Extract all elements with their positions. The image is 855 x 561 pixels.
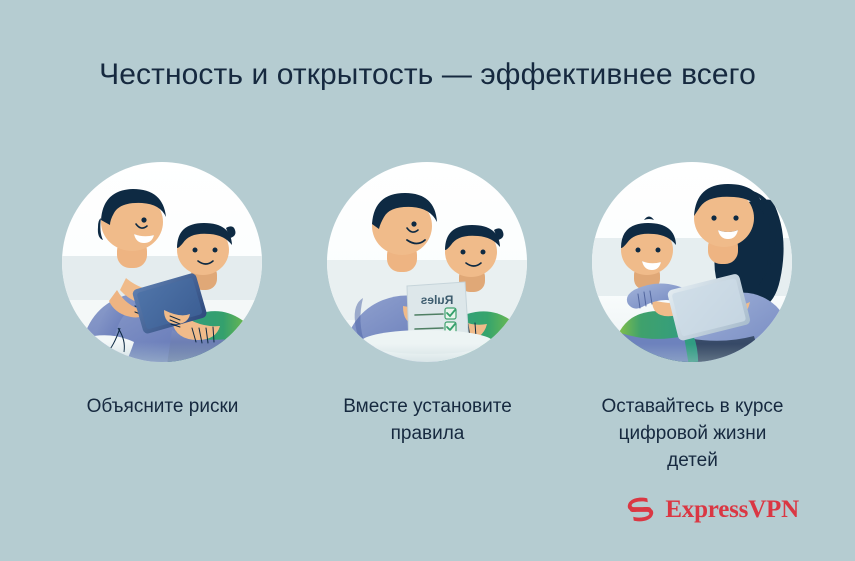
scene-clip bbox=[60, 160, 265, 372]
illustration-father-and-son-holding-rules-paper: Rules bbox=[325, 160, 530, 372]
expressvpn-wordmark: ExpressVPN bbox=[665, 497, 799, 522]
expressvpn-logo[interactable]: ExpressVPN bbox=[625, 494, 799, 525]
illustration-father-and-son-with-tablet bbox=[60, 160, 265, 372]
panel-row: Объясните риски bbox=[0, 160, 855, 475]
panel-caption: Вместе установите правила bbox=[328, 394, 528, 448]
panel-caption: Оставайтесь в курсе цифровой жизни детей bbox=[593, 394, 793, 475]
svg-text:Rules: Rules bbox=[420, 293, 453, 307]
illustration-mother-and-son-with-tablet bbox=[590, 160, 795, 372]
panel-caption: Объясните риски bbox=[87, 394, 239, 421]
panel-explain-risks: Объясните риски bbox=[30, 160, 295, 421]
page-title: Честность и открытость — эффективнее все… bbox=[0, 55, 855, 95]
infographic-root: Честность и открытость — эффективнее все… bbox=[0, 0, 855, 561]
panel-stay-informed: Оставайтесь в курсе цифровой жизни детей bbox=[560, 160, 825, 475]
expressvpn-e-mark bbox=[625, 494, 656, 525]
panel-set-rules-together: Rules bbox=[295, 160, 560, 448]
